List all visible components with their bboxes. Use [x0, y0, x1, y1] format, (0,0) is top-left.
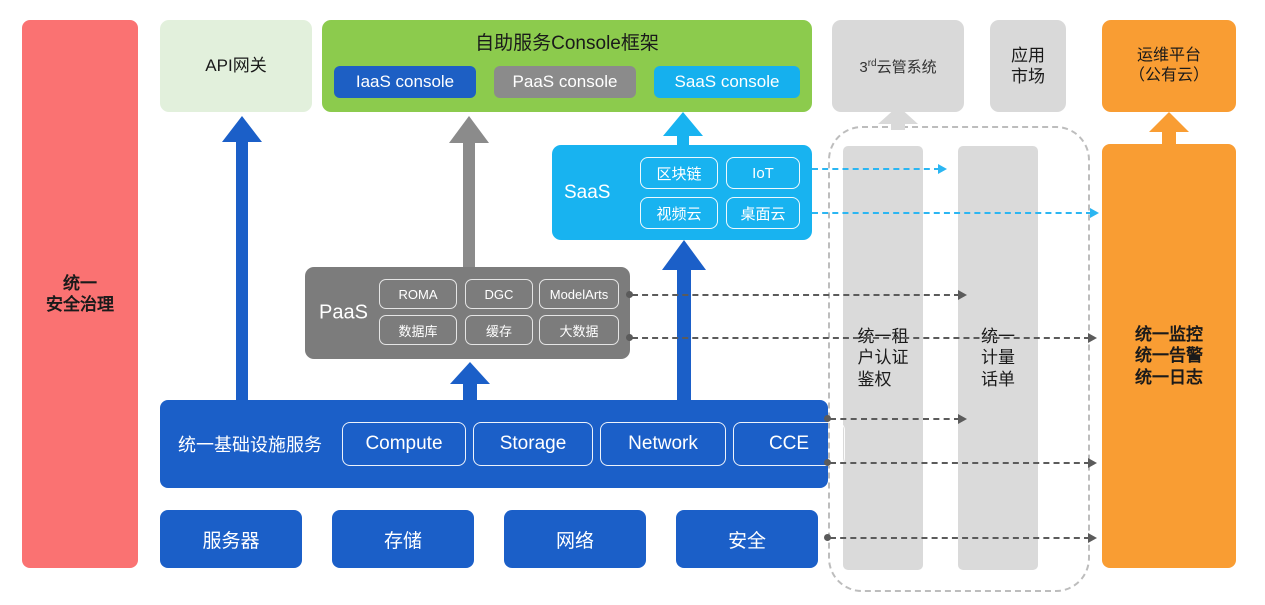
- unified-metering-billing-column: 统一 计量 话单: [958, 146, 1038, 570]
- saas-item-video-cloud[interactable]: 视频云: [640, 197, 718, 229]
- iaas-console-badge[interactable]: IaaS console: [334, 66, 476, 98]
- arrow-paas-to-paas-console: [449, 116, 489, 267]
- unified-security-governance-block: 统一 安全治理: [22, 20, 138, 568]
- unified-infrastructure-service-label: 统一基础设施服务: [178, 431, 322, 457]
- paas-item-roma[interactable]: ROMA: [379, 279, 457, 309]
- saas-item-iot[interactable]: IoT: [726, 157, 800, 189]
- arrow-infra-to-saas: [662, 240, 706, 400]
- paas-item-bigdata[interactable]: 大数据: [539, 315, 619, 345]
- unified-monitoring-alarm-log-block: 统一监控 统一告警 统一日志: [1102, 144, 1236, 568]
- arrow-infra-to-paas: [450, 362, 490, 400]
- third-party-cloud-management-label: 3rd云管系统: [859, 56, 936, 77]
- arrow-saas-to-saas-console: [663, 112, 703, 146]
- ops-platform-public-cloud-block: 运维平台 （公有云）: [1102, 20, 1236, 112]
- app-market-label: 应用 市场: [1011, 45, 1045, 88]
- third-party-cloud-management-block: 3rd云管系统: [832, 20, 964, 112]
- hardware-tile-server: 服务器: [160, 510, 302, 568]
- dashed-saas-to-auth-arrowhead: [938, 164, 947, 174]
- ops-platform-public-cloud-label: 运维平台 （公有云）: [1129, 46, 1209, 86]
- dashed-infra-to-metering: [830, 418, 960, 420]
- arrow-ops-column-to-ops-platform: [1149, 112, 1189, 144]
- dashed-infra-to-metering-arrowhead: [958, 414, 967, 424]
- paas-item-database[interactable]: 数据库: [379, 315, 457, 345]
- saas-item-blockchain[interactable]: 区块链: [640, 157, 718, 189]
- architecture-diagram-canvas: 统一 安全治理 API网关 自助服务Console框架 IaaS console…: [0, 0, 1265, 605]
- unified-monitoring-alarm-log-label: 统一监控 统一告警 统一日志: [1135, 324, 1203, 388]
- dashed-hardware-to-ops-arrowhead: [1088, 533, 1097, 543]
- dashed-saas-to-auth: [812, 168, 940, 170]
- self-service-console-framework-block: 自助服务Console框架 IaaS console PaaS console …: [322, 20, 812, 112]
- paas-item-cache[interactable]: 缓存: [465, 315, 533, 345]
- paas-item-modelarts[interactable]: ModelArts: [539, 279, 619, 309]
- infra-item-compute[interactable]: Compute: [342, 422, 466, 466]
- unified-tenant-auth-label: 统一租 户认证 鉴权: [858, 326, 909, 390]
- infra-item-network[interactable]: Network: [600, 422, 726, 466]
- dashed-saas-to-ops: [812, 212, 1092, 214]
- dashed-infra-to-ops: [830, 462, 1090, 464]
- api-gateway-label: API网关: [205, 55, 266, 76]
- unified-metering-billing-label: 统一 计量 话单: [981, 326, 1015, 390]
- saas-item-desktop-cloud[interactable]: 桌面云: [726, 197, 800, 229]
- hardware-tile-storage: 存储: [332, 510, 474, 568]
- paas-panel: PaaS ROMA DGC ModelArts 数据库 缓存 大数据: [305, 267, 630, 359]
- paas-item-dgc[interactable]: DGC: [465, 279, 533, 309]
- saas-console-badge[interactable]: SaaS console: [654, 66, 800, 98]
- dashed-hardware-to-ops: [830, 537, 1090, 539]
- paas-panel-title: PaaS: [319, 302, 368, 325]
- hardware-tile-network: 网络: [504, 510, 646, 568]
- console-framework-title: 自助服务Console框架: [322, 28, 812, 55]
- app-market-block: 应用 市场: [990, 20, 1066, 112]
- api-gateway-block: API网关: [160, 20, 312, 112]
- unified-tenant-auth-column: 统一租 户认证 鉴权: [843, 146, 923, 570]
- infra-item-storage[interactable]: Storage: [473, 422, 593, 466]
- dashed-paas-to-ops-arrowhead: [1088, 333, 1097, 343]
- saas-panel: SaaS 区块链 IoT 视频云 桌面云: [552, 145, 812, 240]
- dashed-paas-to-ops: [632, 337, 1090, 339]
- arrow-infra-to-api-gateway: [222, 116, 262, 400]
- hardware-tile-security: 安全: [676, 510, 818, 568]
- dashed-saas-to-ops-arrowhead: [1090, 208, 1099, 218]
- unified-security-governance-label: 统一 安全治理: [46, 273, 114, 316]
- dashed-paas-to-auth: [632, 294, 960, 296]
- unified-infrastructure-service-bar: 统一基础设施服务 Compute Storage Network CCE: [160, 400, 828, 488]
- saas-panel-title: SaaS: [564, 182, 610, 204]
- dashed-infra-to-ops-arrowhead: [1088, 458, 1097, 468]
- paas-console-badge[interactable]: PaaS console: [494, 66, 636, 98]
- dashed-paas-to-auth-arrowhead: [958, 290, 967, 300]
